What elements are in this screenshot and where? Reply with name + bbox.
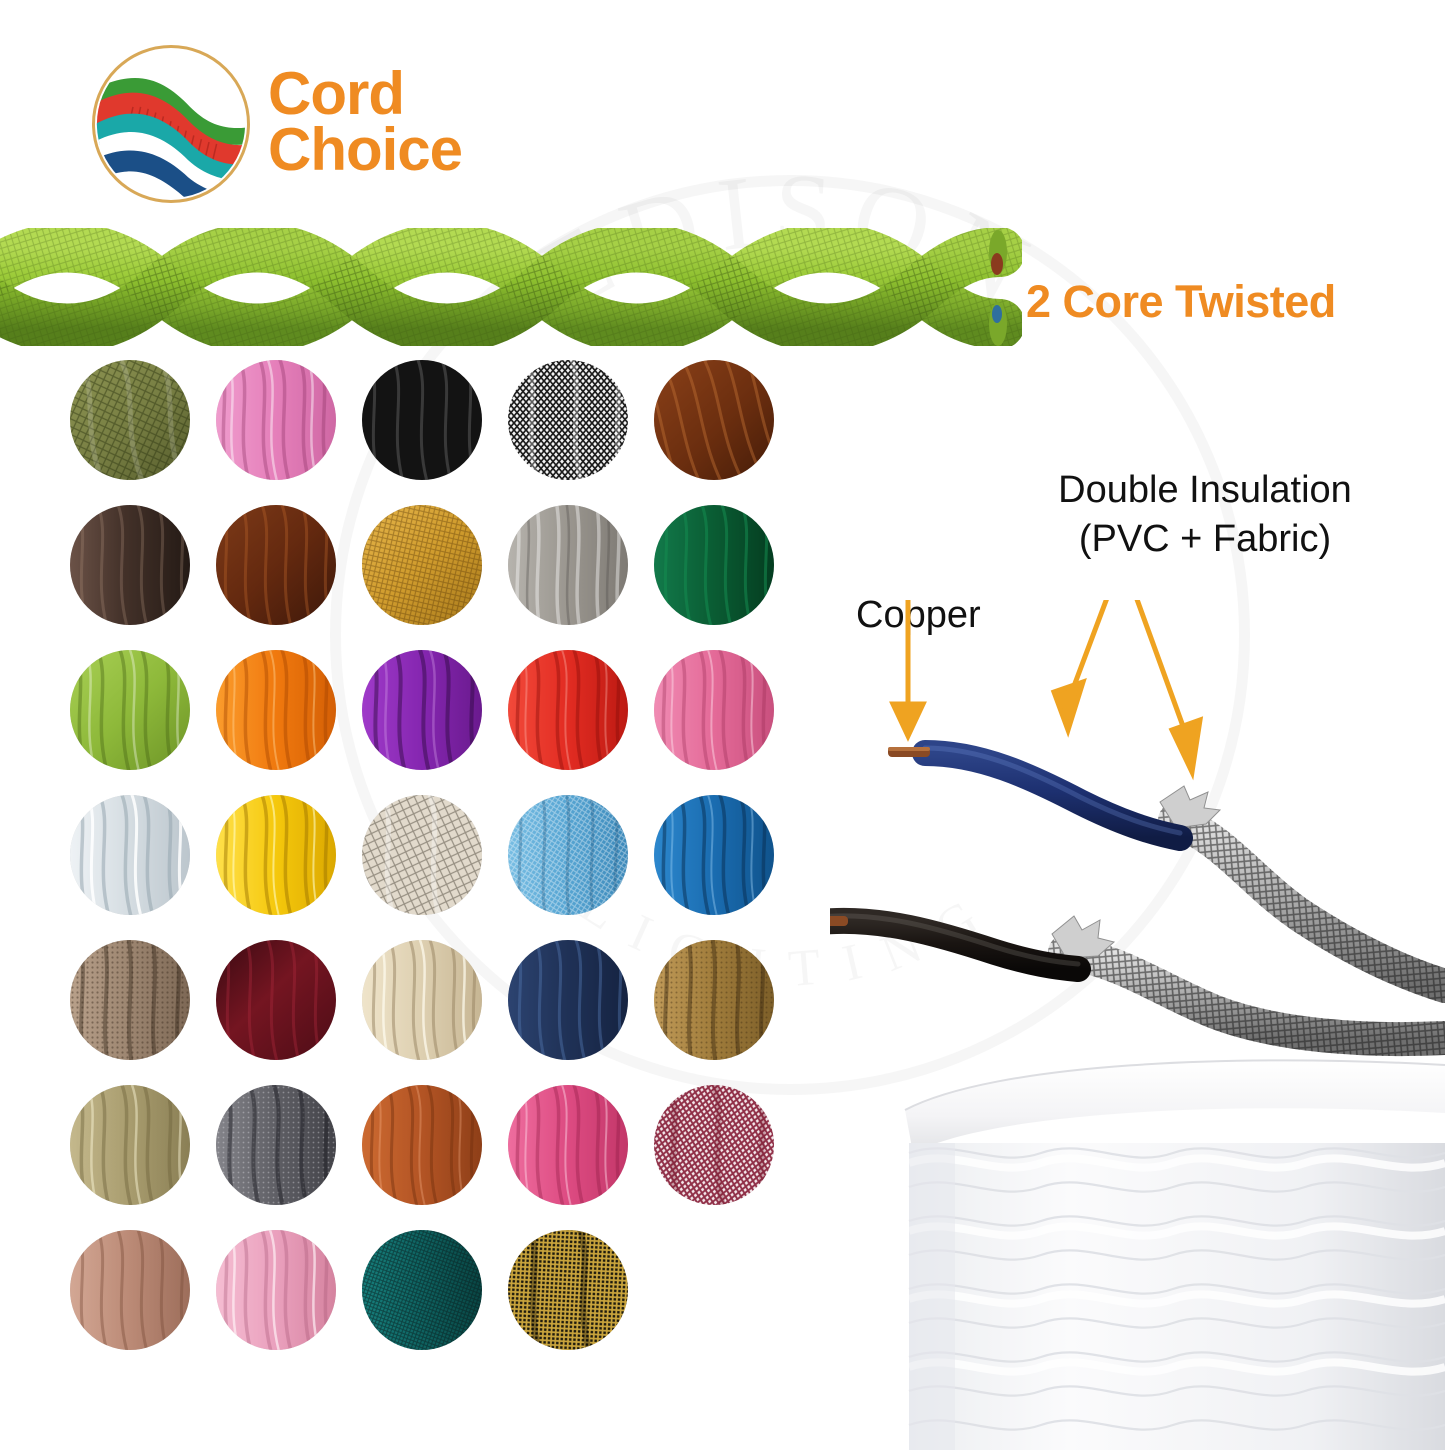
double-insulation-line2: (PVC + Fabric) bbox=[1010, 515, 1400, 564]
white-cable-spool-icon bbox=[885, 1035, 1445, 1450]
swatch-lime-green[interactable] bbox=[70, 650, 190, 770]
swatch-terracotta[interactable] bbox=[362, 1085, 482, 1205]
double-insulation-line1: Double Insulation bbox=[1010, 466, 1400, 515]
swatch-teal[interactable] bbox=[362, 1230, 482, 1350]
swatch-dark-green[interactable] bbox=[654, 505, 774, 625]
swatch-brown[interactable] bbox=[654, 360, 774, 480]
swatch-olive-green[interactable] bbox=[70, 360, 190, 480]
label-double-insulation: Double Insulation (PVC + Fabric) bbox=[1010, 466, 1400, 563]
brand-name-line2: Choice bbox=[268, 122, 462, 178]
swatch-grey[interactable] bbox=[508, 505, 628, 625]
swatch-blue[interactable] bbox=[654, 795, 774, 915]
swatch-light-pink[interactable] bbox=[216, 1230, 336, 1350]
infographic-canvas: EDISON LIGHTING bbox=[0, 0, 1445, 1445]
cut-cable-cross-section-icon bbox=[830, 690, 1445, 1070]
swatch-red[interactable] bbox=[508, 650, 628, 770]
swatch-navy-blue[interactable] bbox=[508, 940, 628, 1060]
swatch-row bbox=[70, 505, 790, 625]
swatch-gold-mustard[interactable] bbox=[362, 505, 482, 625]
swatch-row bbox=[70, 795, 790, 915]
swatch-burgundy[interactable] bbox=[216, 940, 336, 1060]
label-copper: Copper bbox=[856, 594, 981, 637]
swatch-khaki-beige[interactable] bbox=[70, 1085, 190, 1205]
swatch-orange[interactable] bbox=[216, 650, 336, 770]
swatch-golden-jute[interactable] bbox=[654, 940, 774, 1060]
swatch-black-white-zigzag[interactable] bbox=[508, 360, 628, 480]
swatch-dark-taupe-brown[interactable] bbox=[70, 505, 190, 625]
swatch-hot-pink[interactable] bbox=[508, 1085, 628, 1205]
page-title-two-core-twisted: 2 Core Twisted bbox=[1026, 276, 1336, 328]
swatch-cream-lattice[interactable] bbox=[362, 795, 482, 915]
swatch-gold-black[interactable] bbox=[508, 1230, 628, 1350]
swatch-pink[interactable] bbox=[216, 360, 336, 480]
swatch-rose-pink[interactable] bbox=[654, 650, 774, 770]
brand-logo[interactable]: Cord Choice bbox=[92, 45, 462, 203]
swatch-row bbox=[70, 650, 790, 770]
swatch-ivory-cream[interactable] bbox=[362, 940, 482, 1060]
swatch-white-silver[interactable] bbox=[70, 795, 190, 915]
swatch-purple[interactable] bbox=[362, 650, 482, 770]
swatch-black[interactable] bbox=[362, 360, 482, 480]
swatch-row bbox=[70, 940, 790, 1060]
swatch-row bbox=[70, 360, 790, 480]
swatch-beige-jute[interactable] bbox=[70, 940, 190, 1060]
swatch-yellow[interactable] bbox=[216, 795, 336, 915]
brand-name-line1: Cord bbox=[268, 66, 462, 122]
swatch-row bbox=[70, 1230, 790, 1350]
arrow-pvc-shaft bbox=[1068, 600, 1122, 702]
swatch-row bbox=[70, 1085, 790, 1205]
cord-choice-wave-emblem-icon bbox=[92, 45, 250, 203]
swatch-light-blue[interactable] bbox=[508, 795, 628, 915]
brand-wordmark: Cord Choice bbox=[268, 66, 462, 183]
swatch-maroon-white-zigzag[interactable] bbox=[654, 1085, 774, 1205]
swatch-rose-gold-tan[interactable] bbox=[70, 1230, 190, 1350]
swatch-rust-brown[interactable] bbox=[216, 505, 336, 625]
swatch-charcoal-grey[interactable] bbox=[216, 1085, 336, 1205]
color-swatch-grid bbox=[70, 360, 790, 1375]
green-twisted-braided-cable-icon bbox=[0, 228, 1022, 346]
